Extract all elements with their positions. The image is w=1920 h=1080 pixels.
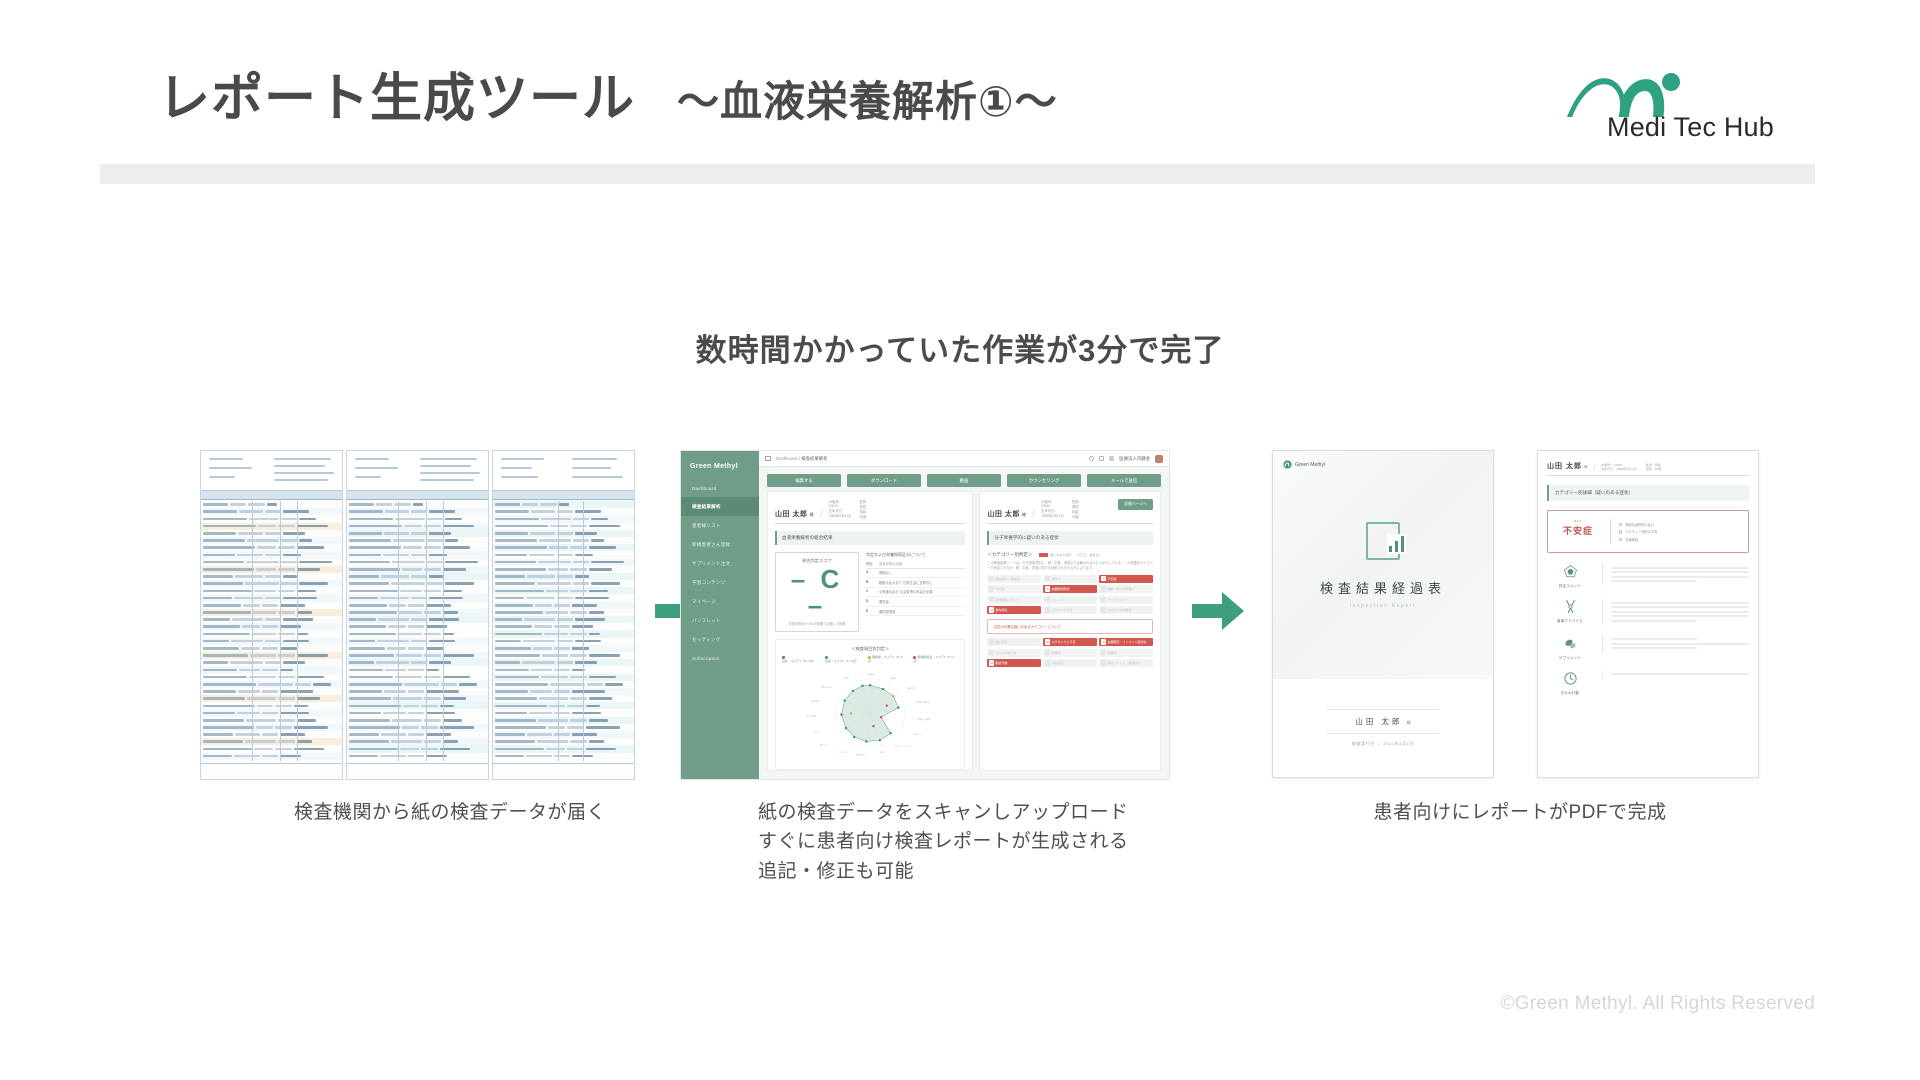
patient-id: ID番号：10010 bbox=[829, 499, 852, 508]
caption-step-2-line-3: 追記・修正も可能 bbox=[758, 857, 1228, 886]
chip-label: 不安症 bbox=[1107, 577, 1116, 581]
table-row bbox=[493, 709, 634, 716]
chip-index bbox=[1101, 660, 1106, 665]
symptom-chip[interactable]: 20マグネシウム不足 bbox=[1043, 638, 1097, 646]
table-row bbox=[347, 566, 488, 573]
table-row bbox=[347, 594, 488, 601]
legend-title: 判定および栄養指導区分について bbox=[866, 552, 965, 558]
symptom-chip[interactable]: ビタミン欠乏症 bbox=[1043, 606, 1097, 614]
sidebar-item-patient-list[interactable]: 患者様リスト bbox=[681, 516, 759, 535]
table-row bbox=[347, 645, 488, 652]
caption-step-3: 患者向けにレポートがPDFで完成 bbox=[1290, 798, 1750, 827]
table-row bbox=[201, 566, 342, 573]
legend-entry: 要精密検査：スコア4（6〜7点） bbox=[913, 655, 958, 663]
video-button[interactable]: 動画 bbox=[927, 474, 1001, 487]
pdf-hero: Green Methyl 検査結果経過表 Inspection Report bbox=[1273, 451, 1493, 679]
arrow-right-icon-2 bbox=[1192, 590, 1244, 632]
app-content: 山田 太郎様 / ID番号：10010 生年月日：1989年2月12日 bbox=[759, 491, 1169, 779]
table-row bbox=[201, 659, 342, 666]
logo-mark-icon: Medi Tec Hub bbox=[1545, 68, 1815, 142]
breadcrumb-root[interactable]: Dashboard bbox=[776, 456, 797, 461]
symptom-chip[interactable]: 腎機能 bbox=[1099, 649, 1153, 657]
table-row bbox=[347, 731, 488, 738]
pdf-date-value: 2021年4月1日 bbox=[1383, 741, 1414, 746]
menu-icon[interactable] bbox=[765, 456, 771, 461]
list-item: 自律神経 bbox=[1619, 537, 1741, 542]
table-row bbox=[347, 602, 488, 609]
table-row bbox=[201, 551, 342, 558]
symptom-chip-grid-secondary: 鉄欠乏症20マグネシウム不足11血糖障害・インスリン抵抗性タンパク質不足肝機能腎… bbox=[987, 638, 1153, 667]
breadcrumb-current: 検査結果解析 bbox=[801, 456, 827, 461]
table-row bbox=[201, 702, 342, 709]
table-row bbox=[347, 573, 488, 580]
table-row bbox=[493, 645, 634, 652]
chip-index: 11 bbox=[989, 607, 994, 612]
table-row bbox=[347, 753, 488, 760]
chip-label: 血糖調節障害 bbox=[1051, 587, 1069, 591]
chip-index bbox=[1045, 660, 1050, 665]
patient-age: 年齢：33歳 bbox=[1072, 509, 1082, 519]
legend-col-grade: 判定 bbox=[866, 561, 874, 566]
table-row bbox=[201, 652, 342, 659]
legend-grade: E bbox=[866, 609, 874, 614]
app-topbar: Dashboard / 検査結果解析 医療法人内藤会 bbox=[759, 451, 1169, 467]
sidebar-item-subscription[interactable]: Subscription bbox=[681, 649, 759, 667]
legend-grade: D bbox=[866, 599, 874, 604]
sidebar-item-pamphlet[interactable]: パンフレット bbox=[681, 611, 759, 630]
scan-header bbox=[201, 451, 342, 491]
table-row bbox=[347, 709, 488, 716]
chip-label: ストレス bbox=[1051, 598, 1063, 602]
table-row: A問題なし bbox=[866, 569, 965, 579]
pdf-block-daily-action: 日々の行動 bbox=[1547, 671, 1749, 695]
radar-chart-title: ＜検査項目別判定＞ bbox=[782, 646, 958, 652]
table-row bbox=[347, 659, 488, 666]
table-row bbox=[201, 724, 342, 731]
table-row bbox=[493, 530, 634, 537]
judgement-legend-table: 判定および栄養指導区分について 判定 栄養状態の評価 A問題なしB軽度な乱れあり… bbox=[866, 552, 965, 632]
table-row bbox=[347, 515, 488, 522]
pdf-date: 検査実行日 | 2021年4月1日 bbox=[1352, 741, 1414, 747]
sidebar-item-result-analysis[interactable]: 検査結果解析 bbox=[681, 497, 759, 516]
chip-label: 酸化ストレス・抗酸化力 bbox=[1107, 661, 1140, 665]
table-row bbox=[347, 652, 488, 659]
app-window: Green Methyl Dashboard 検査結果解析 患者様リスト 新規患… bbox=[680, 450, 1170, 780]
svg-text:Medi Tec Hub: Medi Tec Hub bbox=[1607, 112, 1774, 142]
svg-text:腎機能・電解質: 腎機能・電解質 bbox=[917, 717, 930, 721]
chip-label: アンチエイジー bbox=[1107, 598, 1128, 602]
counseling-button[interactable]: カウンセリング bbox=[1007, 474, 1081, 487]
symptom-chip[interactable]: 抑うつ bbox=[1043, 575, 1097, 583]
pdf-block-text bbox=[1602, 636, 1749, 652]
symptom-chip[interactable]: 酸化ストレス・抗酸化力 bbox=[1099, 659, 1153, 667]
table-row bbox=[201, 515, 342, 522]
pdf-date-separator: | bbox=[1377, 741, 1382, 746]
avatar[interactable] bbox=[1155, 455, 1163, 463]
scan-table-header bbox=[493, 491, 634, 500]
legend-grade: C bbox=[866, 589, 874, 594]
pdf-block-label: 日々の行動 bbox=[1547, 690, 1593, 695]
table-row bbox=[347, 745, 488, 752]
chip-index bbox=[989, 586, 994, 591]
table-row bbox=[493, 717, 634, 724]
sidebar-item-setting[interactable]: セッティング bbox=[681, 630, 759, 649]
pdf-block-text bbox=[1602, 599, 1749, 625]
chip-label: 睡眠・寝つきが悪い bbox=[1107, 587, 1134, 591]
table-row: B軽度な乱れあり 日常生活に支障なし bbox=[866, 578, 965, 588]
summary-section-title: 血液栄養解析の総合結果 bbox=[775, 531, 965, 545]
table-row: E要精密検査 bbox=[866, 607, 965, 617]
svg-text:甲状腺: 甲状腺 bbox=[843, 676, 849, 680]
table-row bbox=[347, 702, 488, 709]
table-row bbox=[201, 587, 342, 594]
table-row bbox=[493, 609, 634, 616]
pdf-meta-age: 年齢：33歳 bbox=[1646, 467, 1661, 471]
table-row bbox=[347, 717, 488, 724]
symptom-chip[interactable]: 8血糖調節障害 bbox=[1043, 585, 1097, 593]
search-icon[interactable] bbox=[1089, 456, 1094, 461]
table-row bbox=[493, 551, 634, 558]
symptom-chip[interactable]: 自律神経バランス bbox=[987, 596, 1041, 604]
patient-honorific: 様 bbox=[1022, 512, 1027, 517]
user-name-label: 医療法人内藤会 bbox=[1119, 456, 1150, 462]
header-divider bbox=[100, 164, 1815, 184]
app-sidebar: Green Methyl Dashboard 検査結果解析 患者様リスト 新規患… bbox=[681, 451, 759, 779]
table-row: C中程度の乱れ 生活習慣の改善が必要 bbox=[866, 588, 965, 598]
table-row bbox=[347, 688, 488, 695]
patient-dob: 生年月日：1989年2月12日 bbox=[829, 508, 852, 518]
table-row bbox=[347, 537, 488, 544]
symptom-chip[interactable]: 2不安症 bbox=[1099, 575, 1153, 583]
caption-step-1: 検査機関から紙の検査データが届く bbox=[240, 798, 660, 827]
patient-name-text: 山田 太郎 bbox=[775, 511, 807, 518]
chip-label: 血糖障害・インスリン抵抗性 bbox=[1107, 640, 1146, 644]
patient-sex: 性別：男性 bbox=[859, 499, 869, 509]
table-row bbox=[493, 537, 634, 544]
category-label: ＜カテゴリー別判定＞ bbox=[987, 552, 1032, 558]
cutlery-icon: 食事アドバイス bbox=[1547, 599, 1593, 623]
patient-meta: ID番号：10010 生年月日：1989年2月12日 性別：男性 年齢：33歳 bbox=[1041, 499, 1082, 519]
table-row bbox=[347, 724, 488, 731]
report-chart-icon bbox=[1366, 522, 1400, 560]
action-button-row: 編集する ダウンロード 動画 カウンセリング メールで送信 bbox=[759, 467, 1169, 491]
table-row bbox=[201, 709, 342, 716]
alert-text: 注意が必要な疑いのあるカテゴリーについて bbox=[993, 625, 1061, 629]
legend-on: 疑いのある症状 bbox=[1039, 553, 1071, 557]
chip-index bbox=[1045, 607, 1050, 612]
scanned-lab-sheet-image bbox=[200, 450, 635, 780]
table-row bbox=[201, 666, 342, 673]
pdf-patient-header: 山田 太郎様 / ID番号 ：10010 生年月日：1989年2月12日 性別：… bbox=[1547, 461, 1749, 476]
legend-desc: 中程度の乱れ 生活習慣の改善が必要 bbox=[879, 589, 933, 594]
radar-chart-icon: 判定コメント bbox=[1547, 564, 1593, 588]
table-row bbox=[493, 745, 634, 752]
pdf-detail-page: 山田 太郎様 / ID番号 ：10010 生年月日：1989年2月12日 性別：… bbox=[1537, 450, 1759, 778]
topbar-actions: 医療法人内藤会 bbox=[1089, 455, 1163, 463]
pdf-detail-patient-name: 山田 太郎様 bbox=[1547, 461, 1589, 471]
scan-sheet-2 bbox=[346, 450, 489, 780]
web-app-screenshot: Green Methyl Dashboard 検査結果解析 患者様リスト 新規患… bbox=[680, 450, 1170, 780]
table-row bbox=[493, 753, 634, 760]
legend-entry: 要観察：スコア3（4〜5点） bbox=[868, 655, 908, 663]
patient-age: 年齢：33歳 bbox=[859, 509, 869, 519]
table-row bbox=[347, 630, 488, 637]
list-item: 神経伝達物質の乱れ bbox=[1619, 522, 1741, 527]
pdf-rank: No.1 不安症 bbox=[1555, 519, 1601, 537]
chip-index: 20 bbox=[1045, 639, 1050, 644]
chip-label: 腸内環境 bbox=[995, 608, 1007, 612]
chip-label: 肝機能 bbox=[1051, 651, 1060, 655]
table-row bbox=[493, 616, 634, 623]
table-row bbox=[201, 630, 342, 637]
symptom-chip[interactable]: タンパク質不足 bbox=[987, 649, 1041, 657]
svg-text:腸内環境: 腸内環境 bbox=[811, 699, 819, 703]
scan-rows bbox=[493, 501, 634, 761]
table-row bbox=[493, 587, 634, 594]
symptom-chip[interactable]: 慢性疲労・倦怠感 bbox=[987, 575, 1041, 583]
caption-step-2-line-1: 紙の検査データをスキャンしアップロード bbox=[758, 798, 1228, 827]
chip-label: ビタミン欠乏症 bbox=[1051, 608, 1072, 612]
scan-rows bbox=[347, 501, 488, 761]
table-row bbox=[493, 544, 634, 551]
table-row bbox=[347, 666, 488, 673]
symptom-chip[interactable]: 12脂質代謝 bbox=[987, 659, 1041, 667]
radar-chart: 一般検査肝機能 脂質代謝糖代謝・膵機能 腎機能・電解質炎症マーカー ビタミン・ミ… bbox=[782, 666, 958, 762]
table-row bbox=[347, 501, 488, 508]
table-row bbox=[201, 638, 342, 645]
pdf-block-supplement: サプリメント bbox=[1547, 636, 1749, 660]
chip-index: 11 bbox=[1101, 639, 1106, 644]
svg-text:鉄代謝マーカー: 鉄代謝マーカー bbox=[856, 753, 869, 757]
table-row bbox=[347, 587, 488, 594]
scan-sheet-1 bbox=[200, 450, 343, 780]
sidebar-item-new-patient[interactable]: 新規患者さん登録 bbox=[681, 535, 759, 554]
symptom-note: この検査結果シートは、分子栄養学的に、軽・中度、重度または疑われるかどうかのレベ… bbox=[987, 561, 1153, 571]
svg-text:アレルギー: アレルギー bbox=[839, 750, 849, 754]
symptom-chip[interactable]: 鉄欠乏症 bbox=[987, 638, 1041, 646]
pdf-block-text bbox=[1602, 671, 1749, 678]
pdf-rank-no: No.1 bbox=[1555, 519, 1601, 523]
svg-text:貧血: 貧血 bbox=[880, 750, 884, 754]
symptom-chip[interactable]: ミネラル代謝異常 bbox=[1099, 606, 1153, 614]
page-title-main: レポート生成ツール bbox=[158, 70, 635, 128]
sidebar-item-mypage[interactable]: マイページ bbox=[681, 592, 759, 611]
legend-desc: 問題なし bbox=[879, 570, 892, 575]
download-button[interactable]: ダウンロード bbox=[847, 474, 921, 487]
divider-slash: / bbox=[1032, 510, 1035, 519]
copyright-footer: ©Green Methyl. All Rights Reserved bbox=[1500, 993, 1815, 1015]
chip-legend: ＜カテゴリー別判定＞ 疑いのある症状 該当なし bbox=[987, 552, 1153, 558]
table-row bbox=[347, 674, 488, 681]
svg-text:免疫系の乱れ: 免疫系の乱れ bbox=[821, 685, 833, 689]
sidebar-item-dashboard[interactable]: Dashboard bbox=[681, 479, 759, 497]
table-row bbox=[347, 559, 488, 566]
chip-index: 12 bbox=[989, 660, 994, 665]
table-row bbox=[493, 731, 634, 738]
scan-header bbox=[493, 451, 634, 491]
symptom-chip[interactable]: アンチエイジー bbox=[1099, 596, 1153, 604]
symptom-chip[interactable]: 冷え性 bbox=[987, 585, 1041, 593]
symptom-category-card: 詳細ページへ 山田 太郎様 / ID番号：10010 生年月日：1989年2月1… bbox=[979, 491, 1161, 771]
pdf-brand-logo: Green Methyl bbox=[1283, 460, 1325, 469]
table-row bbox=[347, 551, 488, 558]
symptom-chip[interactable]: ストレス bbox=[1043, 596, 1097, 604]
symptom-chip[interactable]: 11血糖障害・インスリン抵抗性 bbox=[1099, 638, 1153, 646]
table-row bbox=[347, 623, 488, 630]
subheading: 数時間かかっていた作業が3分で完了 bbox=[0, 325, 1920, 370]
pdf-rank-card: No.1 不安症 神経伝達物質の乱れ ホルモン一時的な不安 自律神経 bbox=[1547, 510, 1749, 553]
chip-label: 慢性疲労・倦怠感 bbox=[995, 577, 1019, 581]
table-row bbox=[201, 602, 342, 609]
table-row bbox=[201, 559, 342, 566]
pdf-cover-page: Green Methyl 検査結果経過表 Inspection Report 山… bbox=[1272, 450, 1494, 778]
symptom-chip[interactable]: 11腸内環境 bbox=[987, 606, 1041, 614]
apps-icon[interactable] bbox=[1109, 456, 1114, 461]
svg-text:ビタミン・ミネラル: ビタミン・ミネラル bbox=[895, 744, 912, 748]
pdf-meta-dob: 生年月日：1989年2月12日 bbox=[1601, 467, 1637, 471]
table-row bbox=[493, 623, 634, 630]
table-row bbox=[493, 652, 634, 659]
scan-footer bbox=[201, 763, 342, 779]
legend-grade: A bbox=[866, 570, 874, 575]
pdf-document-detail: 山田 太郎様 / ID番号 ：10010 生年月日：1989年2月12日 性別：… bbox=[1537, 450, 1759, 778]
legend-desc: 軽度な乱れあり 日常生活に支障なし bbox=[879, 580, 933, 585]
bar-chart-glyph bbox=[1387, 534, 1407, 554]
symptom-chip[interactable]: 炎症反応 bbox=[1043, 659, 1097, 667]
table-row bbox=[347, 609, 488, 616]
table-row bbox=[493, 688, 634, 695]
brand-logo: Medi Tec Hub bbox=[1545, 68, 1815, 142]
clock-icon: 日々の行動 bbox=[1547, 671, 1593, 695]
chip-label: 冷え性 bbox=[995, 587, 1004, 591]
legend-off: 該当なし bbox=[1078, 553, 1101, 557]
table-row bbox=[493, 638, 634, 645]
svg-text:ホルモン: ホルモン bbox=[813, 730, 821, 734]
scan-footer bbox=[347, 763, 488, 779]
pdf-date-label: 検査実行日 bbox=[1352, 741, 1375, 746]
chip-index bbox=[989, 576, 994, 581]
svg-text:肝機能: 肝機能 bbox=[890, 676, 896, 680]
table-row bbox=[201, 580, 342, 587]
table-row bbox=[493, 738, 634, 745]
score-area: 総合判定スコア – C – 栄養状態をA〜Eの5段階で評価した指標 判定および栄… bbox=[775, 552, 965, 632]
edit-button[interactable]: 編集する bbox=[767, 474, 841, 487]
table-row bbox=[347, 695, 488, 702]
svg-text:筋・骨代謝: 筋・骨代謝 bbox=[807, 714, 817, 718]
list-item: ホルモン一時的な不安 bbox=[1619, 529, 1741, 534]
table-row bbox=[201, 645, 342, 652]
chip-index bbox=[989, 650, 994, 655]
radar-chart-card: ＜検査項目別判定＞ 良好：スコア1（0〜1点）注意：スコア2（2〜3点）要観察：… bbox=[775, 639, 965, 770]
pdf-brand-text: Green Methyl bbox=[1295, 462, 1325, 468]
chip-index bbox=[989, 597, 994, 602]
table-row bbox=[347, 681, 488, 688]
chip-index bbox=[1045, 576, 1050, 581]
detail-page-button[interactable]: 詳細ページへ bbox=[1118, 499, 1153, 510]
send-mail-button[interactable]: メールで送信 bbox=[1087, 474, 1161, 487]
legend-table-head: 判定 栄養状態の評価 bbox=[866, 561, 965, 569]
chip-label: 腎機能 bbox=[1107, 651, 1116, 655]
sidebar-item-learning-content[interactable]: 学習コンテンツ bbox=[681, 573, 759, 592]
chip-index bbox=[1101, 650, 1106, 655]
chip-index bbox=[1101, 607, 1106, 612]
table-row bbox=[201, 688, 342, 695]
sidebar-item-supplement-order[interactable]: サプリメント注文 bbox=[681, 554, 759, 573]
pdf-subtitle: Inspection Report bbox=[1350, 603, 1416, 609]
patient-name: 山田 太郎様 bbox=[775, 509, 814, 519]
table-row bbox=[493, 594, 634, 601]
pdf-patient-honorific: 様 bbox=[1406, 720, 1410, 725]
table-row bbox=[347, 523, 488, 530]
table-row bbox=[347, 530, 488, 537]
symptom-chip[interactable]: 肝機能 bbox=[1043, 649, 1097, 657]
table-row bbox=[201, 594, 342, 601]
patient-dob: 生年月日：1989年2月12日 bbox=[1041, 508, 1064, 518]
bell-icon[interactable] bbox=[1099, 456, 1104, 461]
pdf-rank-name: 不安症 bbox=[1555, 524, 1601, 537]
pdf-block-label: 判定コメント bbox=[1547, 583, 1593, 588]
table-row bbox=[493, 681, 634, 688]
table-row bbox=[201, 738, 342, 745]
table-row bbox=[493, 674, 634, 681]
scan-header bbox=[347, 451, 488, 491]
table-row bbox=[493, 702, 634, 709]
chip-index: 8 bbox=[1045, 586, 1050, 591]
table-row bbox=[347, 580, 488, 587]
table-row bbox=[201, 530, 342, 537]
legend-col-desc: 栄養状態の評価 bbox=[879, 561, 902, 566]
score-value: – C – bbox=[780, 566, 854, 618]
patient-honorific: 様 bbox=[809, 512, 814, 517]
symptom-section-title: 分子栄養学的に疑いのある症状 bbox=[987, 531, 1153, 545]
chip-label: 脂質代謝 bbox=[995, 661, 1007, 665]
svg-text:脂質代謝: 脂質代謝 bbox=[907, 686, 915, 690]
table-row bbox=[201, 731, 342, 738]
table-row bbox=[493, 508, 634, 515]
patient-id: ID番号：10010 bbox=[1041, 499, 1064, 508]
table-row bbox=[201, 573, 342, 580]
table-row bbox=[201, 537, 342, 544]
patient-sex: 性別：男性 bbox=[1072, 499, 1082, 509]
analysis-summary-card: 山田 太郎様 / ID番号：10010 生年月日：1989年2月12日 bbox=[767, 491, 973, 771]
table-row bbox=[493, 566, 634, 573]
symptom-chip-grid: 慢性疲労・倦怠感抑うつ2不安症冷え性8血糖調節障害睡眠・寝つきが悪い自律神経バラ… bbox=[987, 575, 1153, 615]
app-main: Dashboard / 検査結果解析 医療法人内藤会 bbox=[759, 451, 1169, 779]
table-row bbox=[493, 724, 634, 731]
table-row bbox=[493, 602, 634, 609]
table-row bbox=[201, 523, 342, 530]
legend-entry: 注意：スコア2（2〜3点） bbox=[825, 655, 862, 663]
table-row bbox=[201, 508, 342, 515]
table-row bbox=[201, 681, 342, 688]
pdf-title: 検査結果経過表 bbox=[1320, 578, 1446, 597]
pdf-document-cover: Green Methyl 検査結果経過表 Inspection Report 山… bbox=[1272, 450, 1494, 778]
pdf-block-label: サプリメント bbox=[1547, 655, 1593, 660]
scan-rows bbox=[201, 501, 342, 761]
table-row bbox=[201, 717, 342, 724]
table-row bbox=[493, 580, 634, 587]
chip-index bbox=[1101, 586, 1106, 591]
chip-index bbox=[1045, 597, 1050, 602]
divider-slash: / bbox=[820, 510, 823, 519]
symptom-chip[interactable]: 睡眠・寝つきが悪い bbox=[1099, 585, 1153, 593]
chip-label: マグネシウム不足 bbox=[1051, 640, 1075, 644]
legend-grade: B bbox=[866, 580, 874, 585]
pdf-footer: 山田 太郎様 検査実行日 | 2021年4月1日 bbox=[1273, 679, 1493, 777]
pdf-patient-name: 山田 太郎様 bbox=[1327, 709, 1438, 734]
chip-index: 2 bbox=[1101, 576, 1106, 581]
table-row bbox=[347, 638, 488, 645]
